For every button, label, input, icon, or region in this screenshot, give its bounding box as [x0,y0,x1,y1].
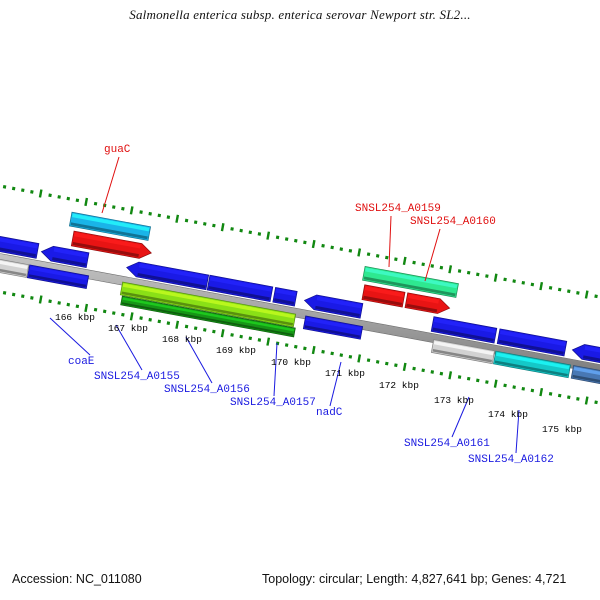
topology-text: Topology: circular; Length: 4,827,641 bp… [262,572,566,586]
label-leader-line [274,343,277,396]
label-leader-line [389,216,391,267]
gene-feature[interactable] [405,293,451,316]
status-bar: Accession: NC_011080 Topology: circular;… [0,560,600,600]
scale-tick-track-lower [0,287,600,406]
gene-label[interactable]: coaE [68,356,95,368]
gene-label[interactable]: nadC [316,407,343,419]
gene-label[interactable]: guaC [104,144,131,156]
gene-label[interactable]: SNSL254_A0157 [230,397,316,409]
scale-label: 168 kbp [162,334,202,345]
gene-label[interactable]: SNSL254_A0160 [410,216,496,228]
scale-label: 170 kbp [271,357,311,368]
gene-label[interactable]: SNSL254_A0159 [355,203,441,215]
scale-label: 171 kbp [325,368,365,379]
scale-label: 173 kbp [434,395,474,406]
gene-label[interactable]: SNSL254_A0161 [404,438,490,450]
label-leader-line [102,157,119,213]
gene-feature[interactable] [362,285,405,307]
accession-text: Accession: NC_011080 [12,572,142,586]
scale-label: 175 kbp [542,424,582,435]
scale-label: 166 kbp [55,312,95,323]
scale-label: 167 kbp [108,323,148,334]
gene-label[interactable]: SNSL254_A0156 [164,384,250,396]
gene-label[interactable]: SNSL254_A0155 [94,371,180,383]
gene-feature[interactable] [273,287,297,306]
label-leader-line [425,229,440,281]
scale-label: 174 kbp [488,409,528,420]
scale-label: 169 kbp [216,345,256,356]
label-leader-line [50,318,90,355]
genome-map[interactable]: 166 kbp167 kbp168 kbp169 kbp170 kbp171 k… [0,0,600,600]
gene-label[interactable]: SNSL254_A0162 [468,454,554,466]
scale-label: 172 kbp [379,380,419,391]
